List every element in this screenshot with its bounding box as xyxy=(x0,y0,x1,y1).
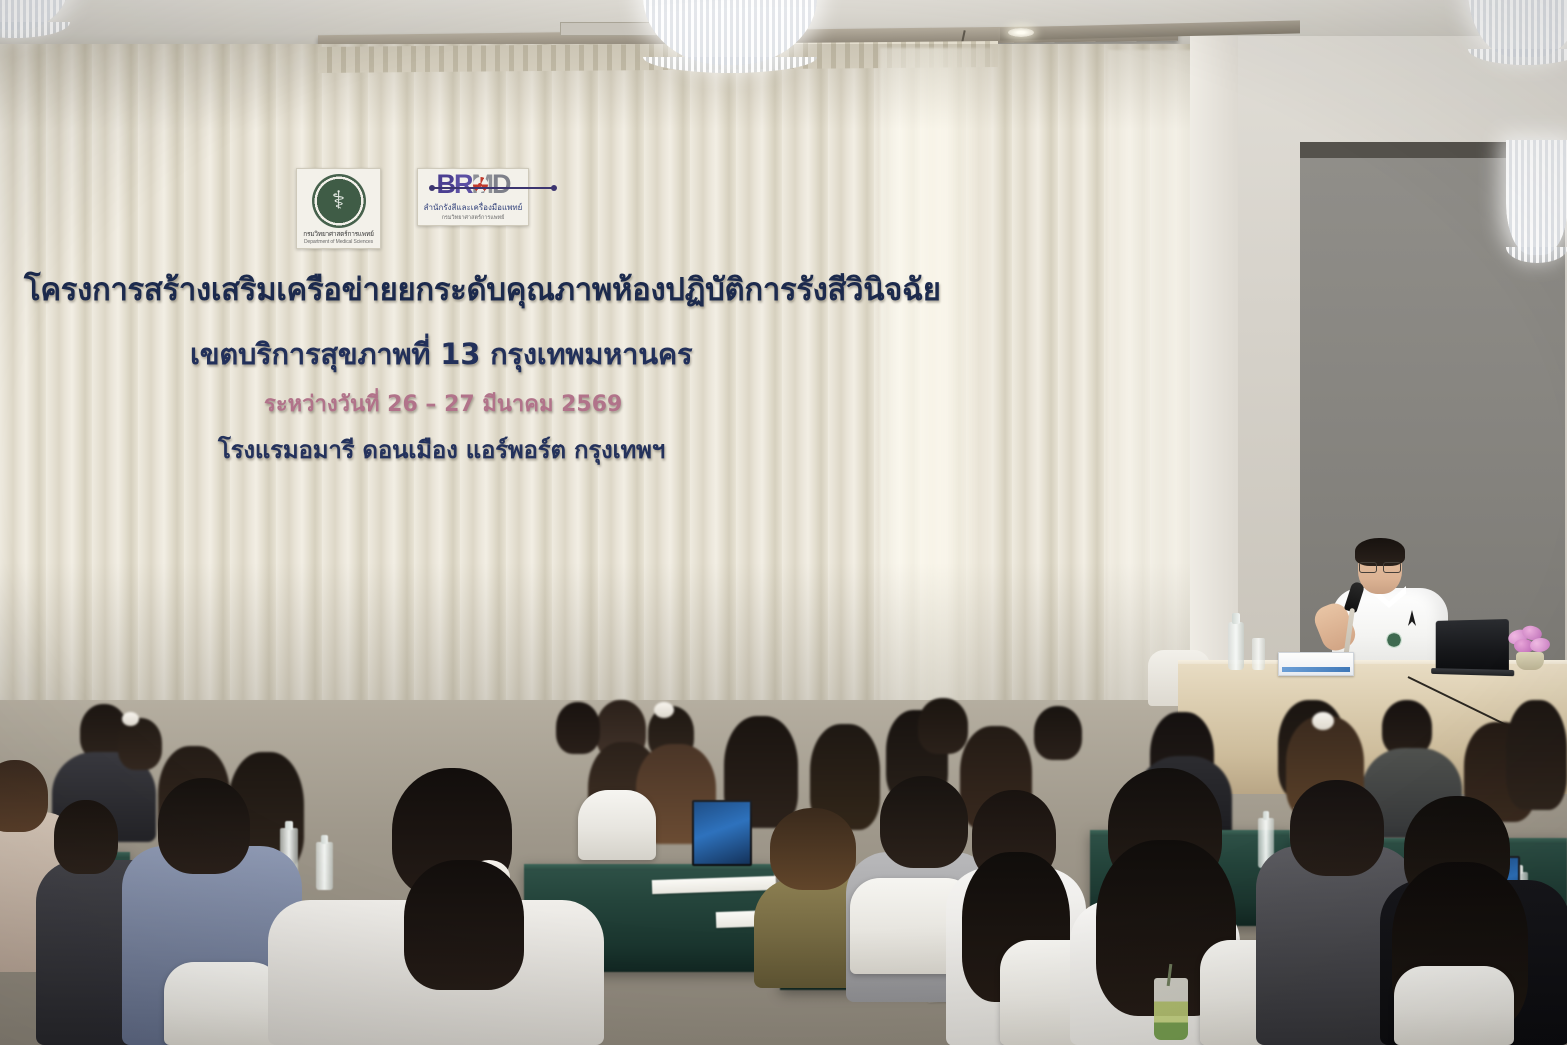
banner-venue: โรงแรมอมารี ดอนเมือง แอร์พอร์ต กรุงเทพฯ xyxy=(218,430,665,469)
person-head xyxy=(770,808,856,890)
brmd-logo: BRMD สำนักรังสีและเครื่องมือแพทย์ กรมวิท… xyxy=(417,168,529,226)
person-hair xyxy=(1506,700,1567,810)
person-head xyxy=(556,702,600,754)
orchid-flower-arrangement xyxy=(1506,626,1552,672)
ministry-of-public-health-logo: ⚕ กรมวิทยาศาสตร์การแพทย์ Department of M… xyxy=(296,168,381,249)
drinking-glass xyxy=(1252,638,1265,670)
presenter-laptop xyxy=(1436,619,1509,671)
person-head xyxy=(118,718,162,770)
audience-chair xyxy=(578,790,656,860)
person-head xyxy=(880,776,968,868)
person-head xyxy=(1034,706,1082,760)
iced-green-drink xyxy=(1154,978,1188,1040)
brmd-rule xyxy=(431,187,555,189)
water-bottle xyxy=(316,842,333,890)
brmd-thai-label: สำนักรังสีและเครื่องมือแพทย์ xyxy=(421,201,525,214)
person-head xyxy=(54,800,118,874)
hair-scrunchie xyxy=(1312,712,1334,730)
laptop-screen xyxy=(694,802,750,864)
conference-photo-scene: ⚕ กรมวิทยาศาสตร์การแพทย์ Department of M… xyxy=(0,0,1567,1045)
name-placard-stripe xyxy=(1282,667,1350,672)
audience-person xyxy=(770,808,856,890)
hair-scrunchie xyxy=(122,712,139,726)
presenter-figure xyxy=(1330,540,1450,670)
audience-chair xyxy=(1394,966,1514,1045)
person-head xyxy=(918,698,968,754)
water-bottle xyxy=(1228,622,1244,670)
radiation-trefoil-icon xyxy=(473,177,488,192)
ministry-seal-icon: ⚕ xyxy=(312,174,366,228)
brmd-letter-r: R xyxy=(454,169,472,199)
presenter-department-emblem-icon xyxy=(1386,632,1402,648)
audience-person xyxy=(918,698,968,754)
person-head xyxy=(1290,780,1384,876)
banner-subtitle: เขตบริการสุขภาพที่ 13 กรุงเทพมหานคร xyxy=(190,331,692,377)
audience-chair xyxy=(164,962,282,1045)
audience-person xyxy=(118,718,162,770)
brmd-letter-b: B xyxy=(437,169,455,199)
ministry-logo-thai-label: กรมวิทยาศาสตร์การแพทย์ xyxy=(300,229,377,239)
brmd-wordmark: BRMD xyxy=(437,172,510,198)
banner-dates: ระหว่างวันที่ 26 – 27 มีนาคม 2569 xyxy=(264,386,622,421)
ministry-logo-english-label: Department of Medical Sciences xyxy=(300,239,377,245)
audience-person xyxy=(880,776,968,868)
audience-person xyxy=(1290,780,1384,876)
hair-scrunchie xyxy=(654,702,674,718)
banner-title: โครงการสร้างเสริมเครือข่ายยกระดับคุณภาพห… xyxy=(24,264,941,314)
audience-person xyxy=(556,702,600,754)
audience-person xyxy=(1034,706,1082,760)
flower-petal xyxy=(1529,637,1551,654)
chandelier-icon xyxy=(1506,140,1567,255)
name-placard xyxy=(1278,652,1354,676)
logo-row: ⚕ กรมวิทยาศาสตร์การแพทย์ Department of M… xyxy=(296,168,529,249)
caduceus-icon: ⚕ xyxy=(332,189,346,214)
audience-person xyxy=(54,800,118,874)
brmd-thai-sublabel: กรมวิทยาศาสตร์การแพทย์ xyxy=(421,214,525,222)
person-head xyxy=(0,760,48,832)
audience-person xyxy=(158,778,250,874)
ceiling-downlight-icon xyxy=(1008,28,1034,37)
flower-vase xyxy=(1516,652,1544,670)
audience-person xyxy=(0,760,48,832)
person-hair xyxy=(404,860,524,990)
eyeglasses-icon xyxy=(1359,562,1401,572)
person-head xyxy=(158,778,250,874)
audience-laptop xyxy=(692,800,752,866)
chandelier-icon xyxy=(1468,0,1567,57)
brmd-letter-d: D xyxy=(492,169,510,199)
